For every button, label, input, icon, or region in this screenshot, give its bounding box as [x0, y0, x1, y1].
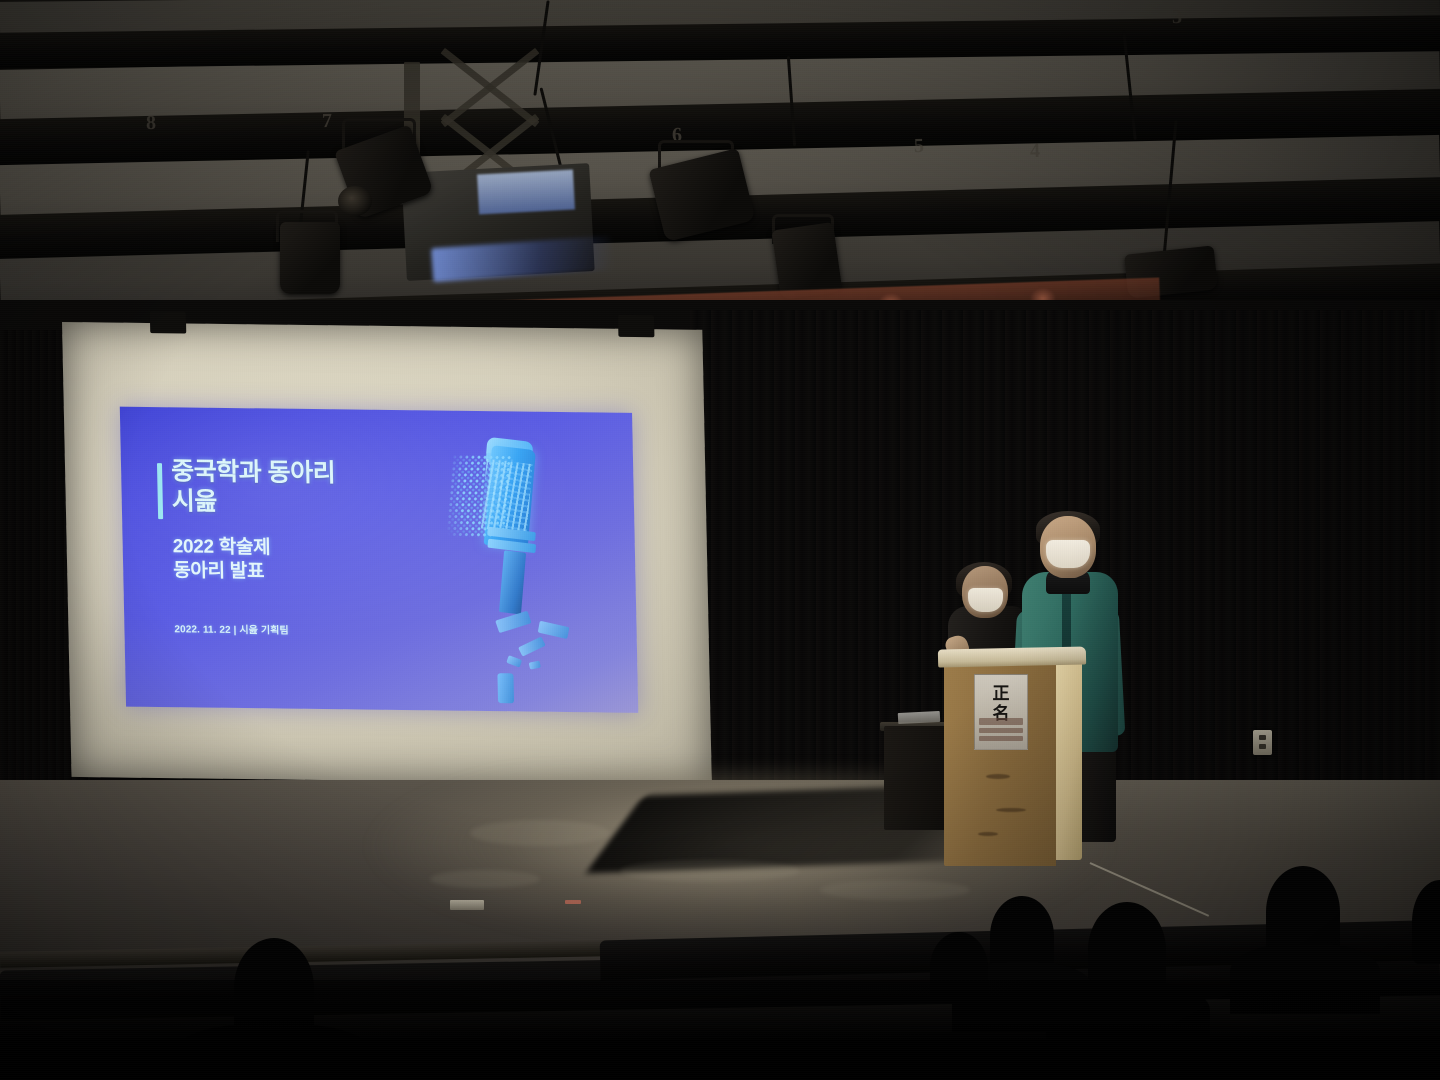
microphone-icon [430, 424, 616, 706]
beam-number: 5 [914, 135, 925, 158]
floor-tape-mark [565, 900, 581, 904]
ceiling: 8 7 6 5 4 3 [0, 0, 1440, 340]
podium-top-surface [938, 646, 1086, 667]
auditorium-scene: 8 7 6 5 4 3 [0, 0, 1440, 1080]
podium-sign-char-1: 正 [993, 684, 1010, 704]
wooden-podium: 正 名 [944, 648, 1080, 866]
beam-number: 7 [322, 110, 332, 133]
microphone-base [497, 673, 514, 703]
face-mask-icon [1046, 540, 1090, 568]
face-mask-icon [968, 588, 1003, 612]
screen-mount [150, 311, 186, 333]
podium-sign: 正 名 [974, 674, 1028, 750]
floor-scuff [470, 820, 610, 846]
stage-light-fixture [280, 222, 340, 294]
light-lens [338, 186, 372, 216]
floor-scuff [620, 860, 800, 882]
microphone-shard [495, 611, 531, 634]
microphone-stem [499, 550, 526, 614]
sign-bar [979, 736, 1023, 741]
sign-bar [979, 718, 1023, 725]
wood-grain [986, 774, 1010, 779]
screen-mount [618, 315, 654, 337]
floor-access-plate [450, 900, 484, 910]
floor-scuff [430, 870, 540, 888]
papers-on-podium [898, 711, 941, 724]
microphone-shard [506, 655, 522, 667]
podium-sign-bars [979, 718, 1023, 744]
projector-window [477, 170, 575, 215]
beam-number: 4 [1030, 140, 1041, 163]
sign-bar [979, 728, 1023, 733]
microphone-shard [529, 661, 541, 670]
foreground-shadow [0, 980, 1440, 1080]
floor-scuff [820, 880, 970, 900]
beam-number: 8 [146, 112, 156, 135]
beam-number: 3 [1172, 6, 1182, 29]
presentation-slide: 중국학과 동아리 시읊 2022 학술제 동아리 발표 2022. 11. 22… [120, 407, 639, 713]
wood-grain [978, 832, 998, 836]
microphone-grille [481, 459, 533, 534]
microphone-shard [538, 621, 570, 639]
slide-credit: 2022. 11. 22 | 시읊 기획팀 [174, 620, 289, 636]
podium-side-panel [1054, 660, 1082, 860]
microphone-shard [518, 637, 546, 657]
wood-grain [996, 808, 1026, 812]
projection-screen: 중국학과 동아리 시읊 2022 학술제 동아리 발표 2022. 11. 22… [62, 322, 712, 785]
wall-outlet [1253, 730, 1272, 755]
